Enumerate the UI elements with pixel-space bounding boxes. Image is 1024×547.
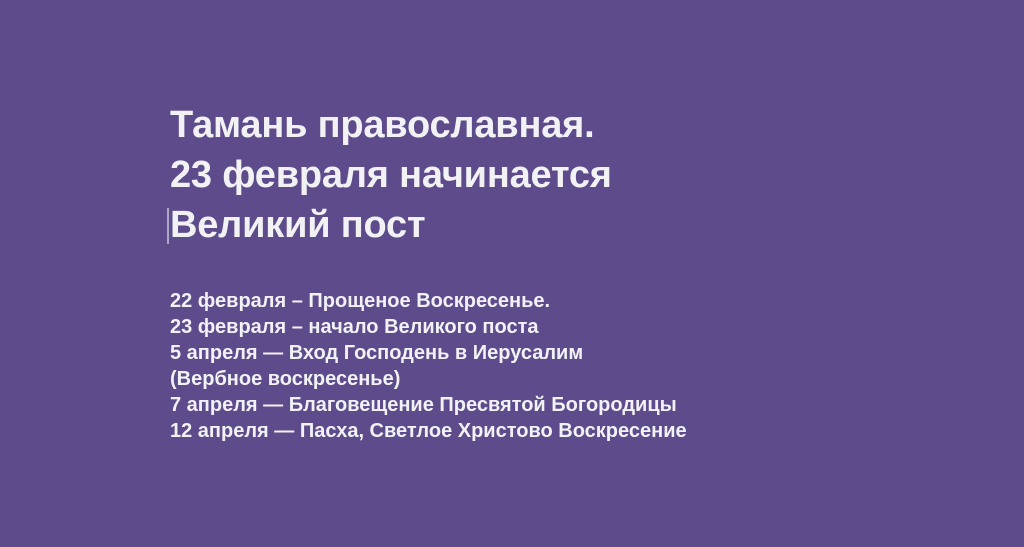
list-item: 23 февраля – начало Великого поста — [170, 314, 890, 340]
list-item: (Вербное воскресенье) — [170, 366, 890, 392]
page-title: Тамань православная. 23 февраля начинает… — [170, 100, 890, 250]
content-block: Тамань православная. 23 февраля начинает… — [170, 100, 890, 444]
title-line-3: Великий пост — [170, 200, 890, 250]
list-item: 5 апреля — Вход Господень в Иерусалим — [170, 340, 890, 366]
title-line-2: 23 февраля начинается — [170, 150, 890, 200]
title-line-1: Тамань православная. — [170, 100, 890, 150]
list-item: 12 апреля — Пасха, Светлое Христово Воск… — [170, 418, 890, 444]
schedule-list: 22 февраля – Прощеное Воскресенье. 23 фе… — [170, 288, 890, 444]
list-item: 22 февраля – Прощеное Воскресенье. — [170, 288, 890, 314]
poster-canvas: Тамань православная. 23 февраля начинает… — [0, 0, 1024, 547]
list-item: 7 апреля — Благовещение Пресвятой Богоро… — [170, 392, 890, 418]
